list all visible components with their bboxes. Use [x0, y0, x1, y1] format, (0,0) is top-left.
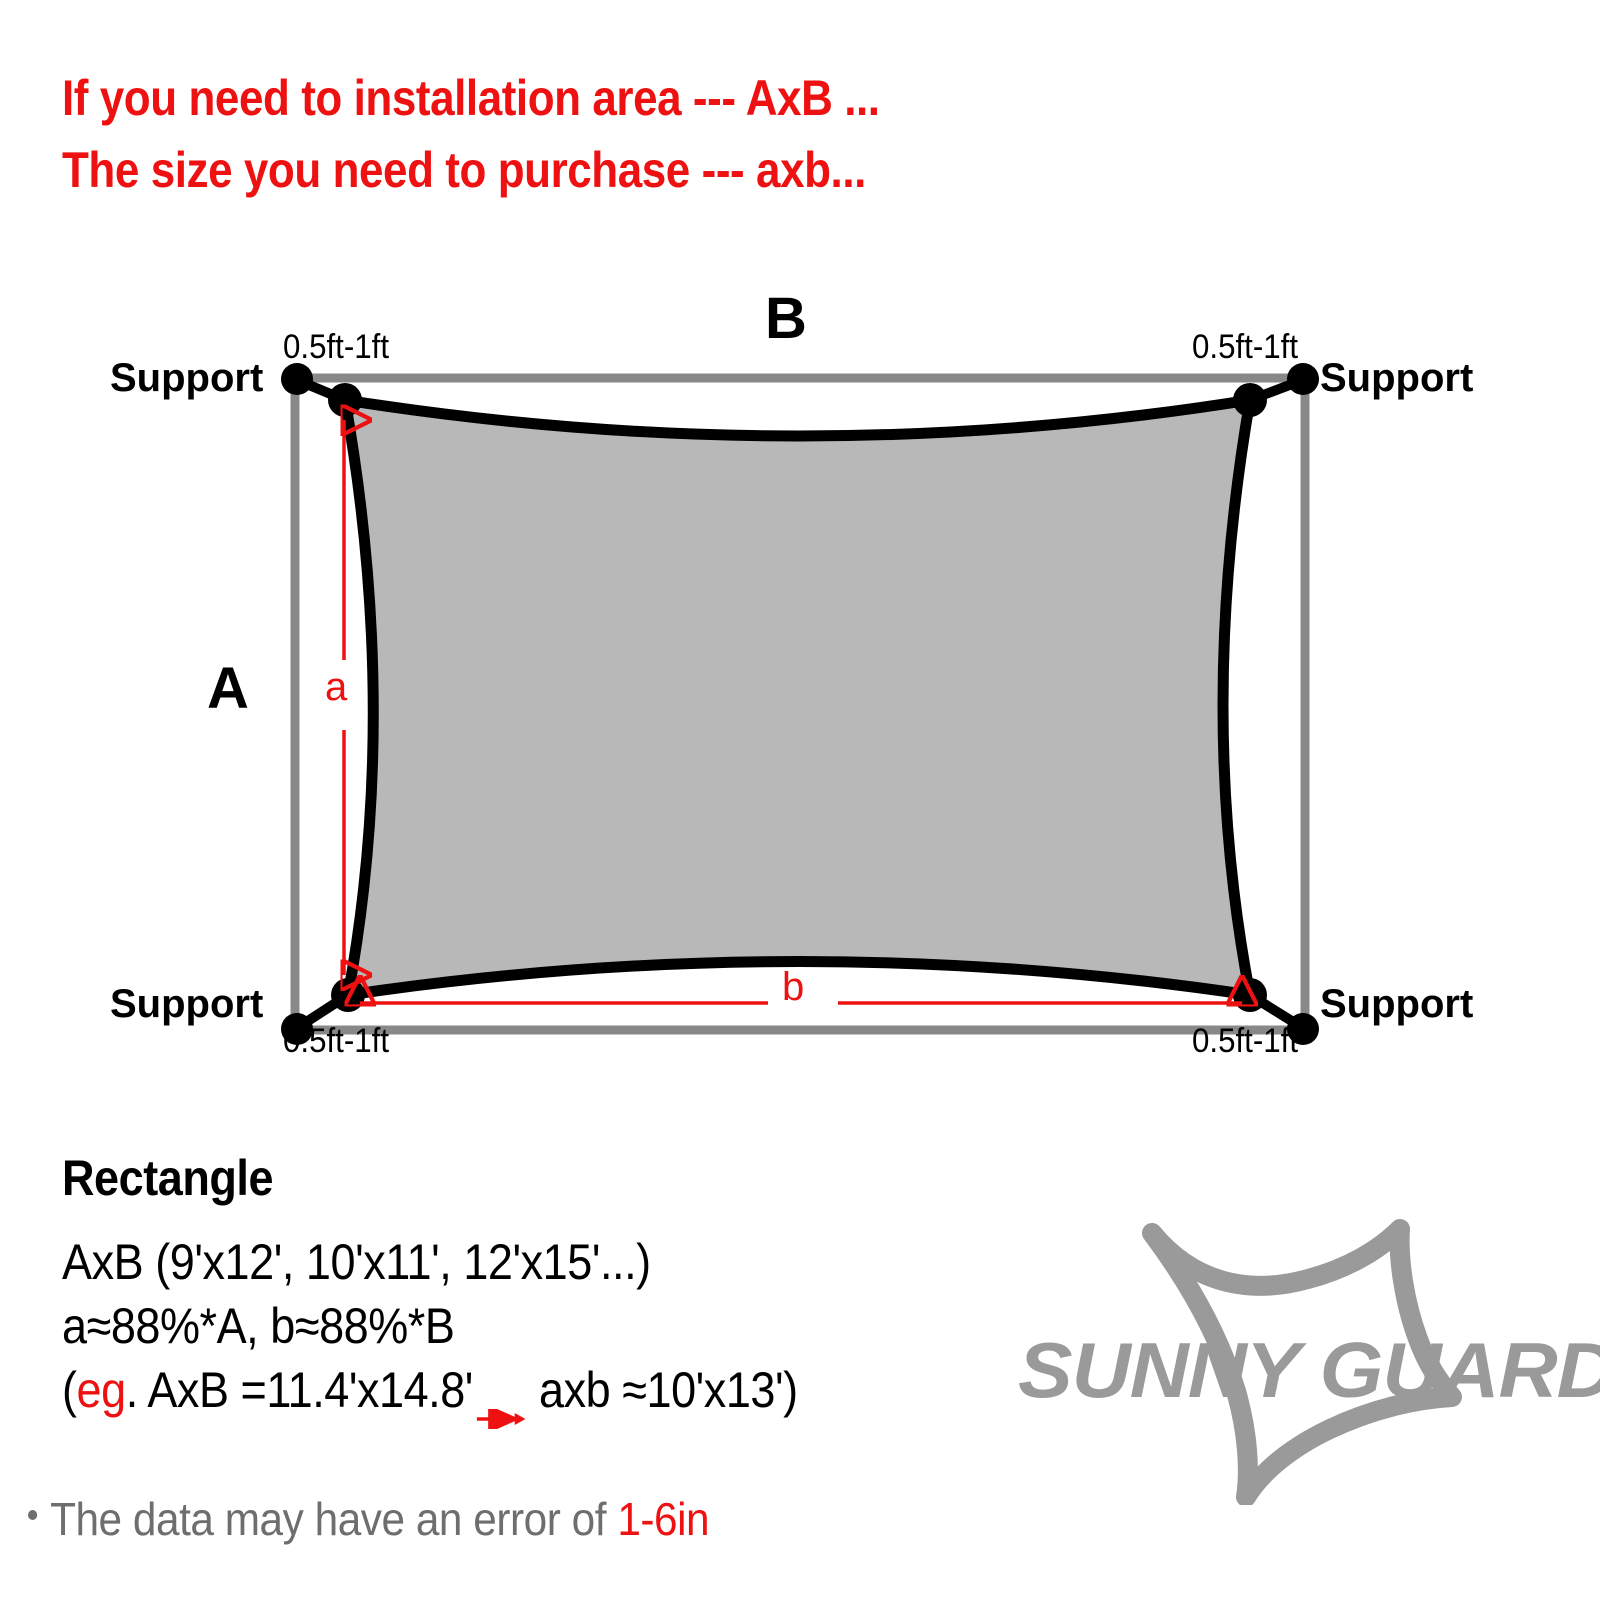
example-eg-tag: eg [77, 1362, 126, 1418]
axis-label-a: A [207, 655, 249, 722]
support-label-top-right: Support [1320, 356, 1473, 401]
installation-diagram: Support Support Support Support 0.5ft-1f… [0, 0, 1600, 1130]
sail-corner-top-right [1233, 383, 1267, 417]
dimension-label-a: a [325, 665, 347, 710]
shape-title: Rectangle [62, 1148, 944, 1208]
sail-corner-bottom-right [1233, 978, 1267, 1012]
dimension-label-b: b [782, 965, 804, 1010]
support-dot-top-right [1287, 363, 1319, 395]
logo-wordmark: SUNNY GUARD [1018, 1325, 1600, 1416]
support-dot-top-left [281, 363, 313, 395]
brand-logo: SUNNY GUARD [1000, 1185, 1560, 1505]
size-examples-line: AxB (9'x12', 10'x11', 12'x15'...) [62, 1230, 944, 1294]
worked-example-line: (eg. AxB =11.4'x14.8' axb ≈10'x13') [62, 1358, 944, 1422]
example-open-paren: ( [62, 1362, 77, 1418]
bullet-icon [28, 1510, 37, 1520]
support-label-bottom-right: Support [1320, 982, 1473, 1027]
axis-label-b: B [765, 285, 807, 352]
shade-sail-shape [345, 400, 1250, 995]
example-result: axb ≈10'x13') [527, 1362, 798, 1418]
tolerance-label-bottom-right: 0.5ft-1ft [1192, 1022, 1298, 1061]
tolerance-label-top-left: 0.5ft-1ft [283, 328, 389, 367]
footer-text: The data may have an error of [50, 1493, 617, 1545]
right-arrow-icon [473, 1380, 527, 1400]
tolerance-label-bottom-left: 0.5ft-1ft [283, 1022, 389, 1061]
sail-corner-top-left [328, 383, 362, 417]
sail-corner-bottom-left [331, 978, 365, 1012]
tolerance-label-top-right: 0.5ft-1ft [1192, 328, 1298, 367]
footer-error-range: 1-6in [617, 1493, 709, 1545]
support-label-bottom-left: Support [110, 982, 263, 1027]
example-middle: . AxB =11.4'x14.8' [126, 1362, 473, 1418]
footer-note: The data may have an error of 1-6in [28, 1492, 709, 1546]
formula-line: a≈88%*A, b≈88%*B [62, 1294, 944, 1358]
details-block: Rectangle AxB (9'x12', 10'x11', 12'x15'.… [62, 1148, 1042, 1422]
support-label-top-left: Support [110, 356, 263, 401]
